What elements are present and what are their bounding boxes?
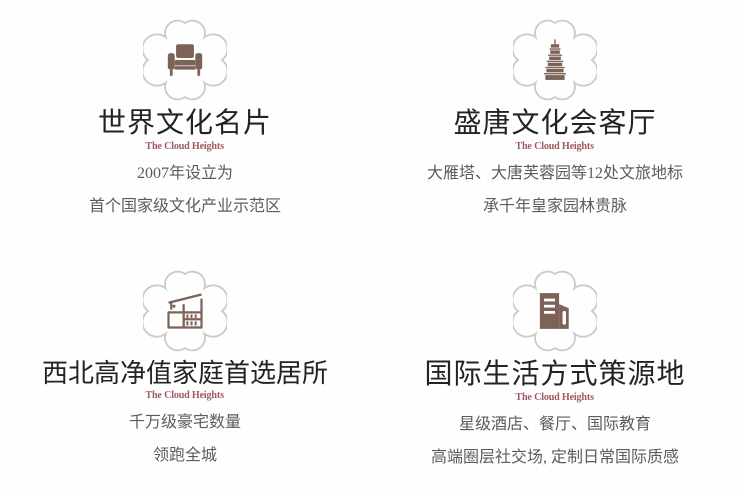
city-buildings-icon-badge bbox=[513, 269, 597, 353]
villa-icon bbox=[163, 289, 207, 333]
brand-subtitle: The Cloud Heights bbox=[516, 140, 594, 152]
feature-sub-line-1: 星级酒店、餐厅、国际教育 bbox=[459, 417, 651, 433]
city-buildings-icon bbox=[533, 289, 577, 333]
feature-heading: 世界文化名片 bbox=[98, 108, 272, 139]
brand-subtitle: The Cloud Heights bbox=[146, 389, 224, 401]
feature-heading: 国际生活方式策源地 bbox=[424, 359, 685, 390]
brand-subtitle: The Cloud Heights bbox=[516, 391, 594, 403]
feature-cell-tang-culture: 盛唐文化会客厅 The Cloud Heights 大雁塔、大唐芙蓉园等12处文… bbox=[370, 0, 740, 247]
feature-heading: 西北高净值家庭首选居所 bbox=[42, 359, 328, 388]
feature-sub-line-1: 大雁塔、大唐芙蓉园等12处文旅地标 bbox=[427, 166, 683, 182]
villa-icon-badge bbox=[143, 269, 227, 353]
feature-cell-premium-residence: 西北高净值家庭首选居所 The Cloud Heights 千万级豪宅数量 领跑… bbox=[0, 247, 370, 494]
armchair-icon bbox=[163, 38, 207, 82]
feature-sub-line-2: 高端圈层社交场, 定制日常国际质感 bbox=[431, 450, 679, 466]
feature-sub-line-2: 首个国家级文化产业示范区 bbox=[89, 199, 281, 215]
feature-heading: 盛唐文化会客厅 bbox=[453, 108, 656, 139]
armchair-icon-badge bbox=[143, 18, 227, 102]
feature-grid: 世界文化名片 The Cloud Heights 2007年设立为 首个国家级文… bbox=[0, 0, 740, 494]
pagoda-icon-badge bbox=[513, 18, 597, 102]
pagoda-icon bbox=[533, 38, 577, 82]
feature-cell-world-culture: 世界文化名片 The Cloud Heights 2007年设立为 首个国家级文… bbox=[0, 0, 370, 247]
feature-cell-international-lifestyle: 国际生活方式策源地 The Cloud Heights 星级酒店、餐厅、国际教育… bbox=[370, 247, 740, 494]
feature-sub-line-2: 承千年皇家园林贵脉 bbox=[483, 199, 627, 215]
brand-subtitle: The Cloud Heights bbox=[146, 140, 224, 152]
feature-sub-line-1: 2007年设立为 bbox=[137, 166, 233, 182]
feature-sub-line-2: 领跑全城 bbox=[153, 448, 217, 464]
feature-sub-line-1: 千万级豪宅数量 bbox=[129, 415, 241, 431]
